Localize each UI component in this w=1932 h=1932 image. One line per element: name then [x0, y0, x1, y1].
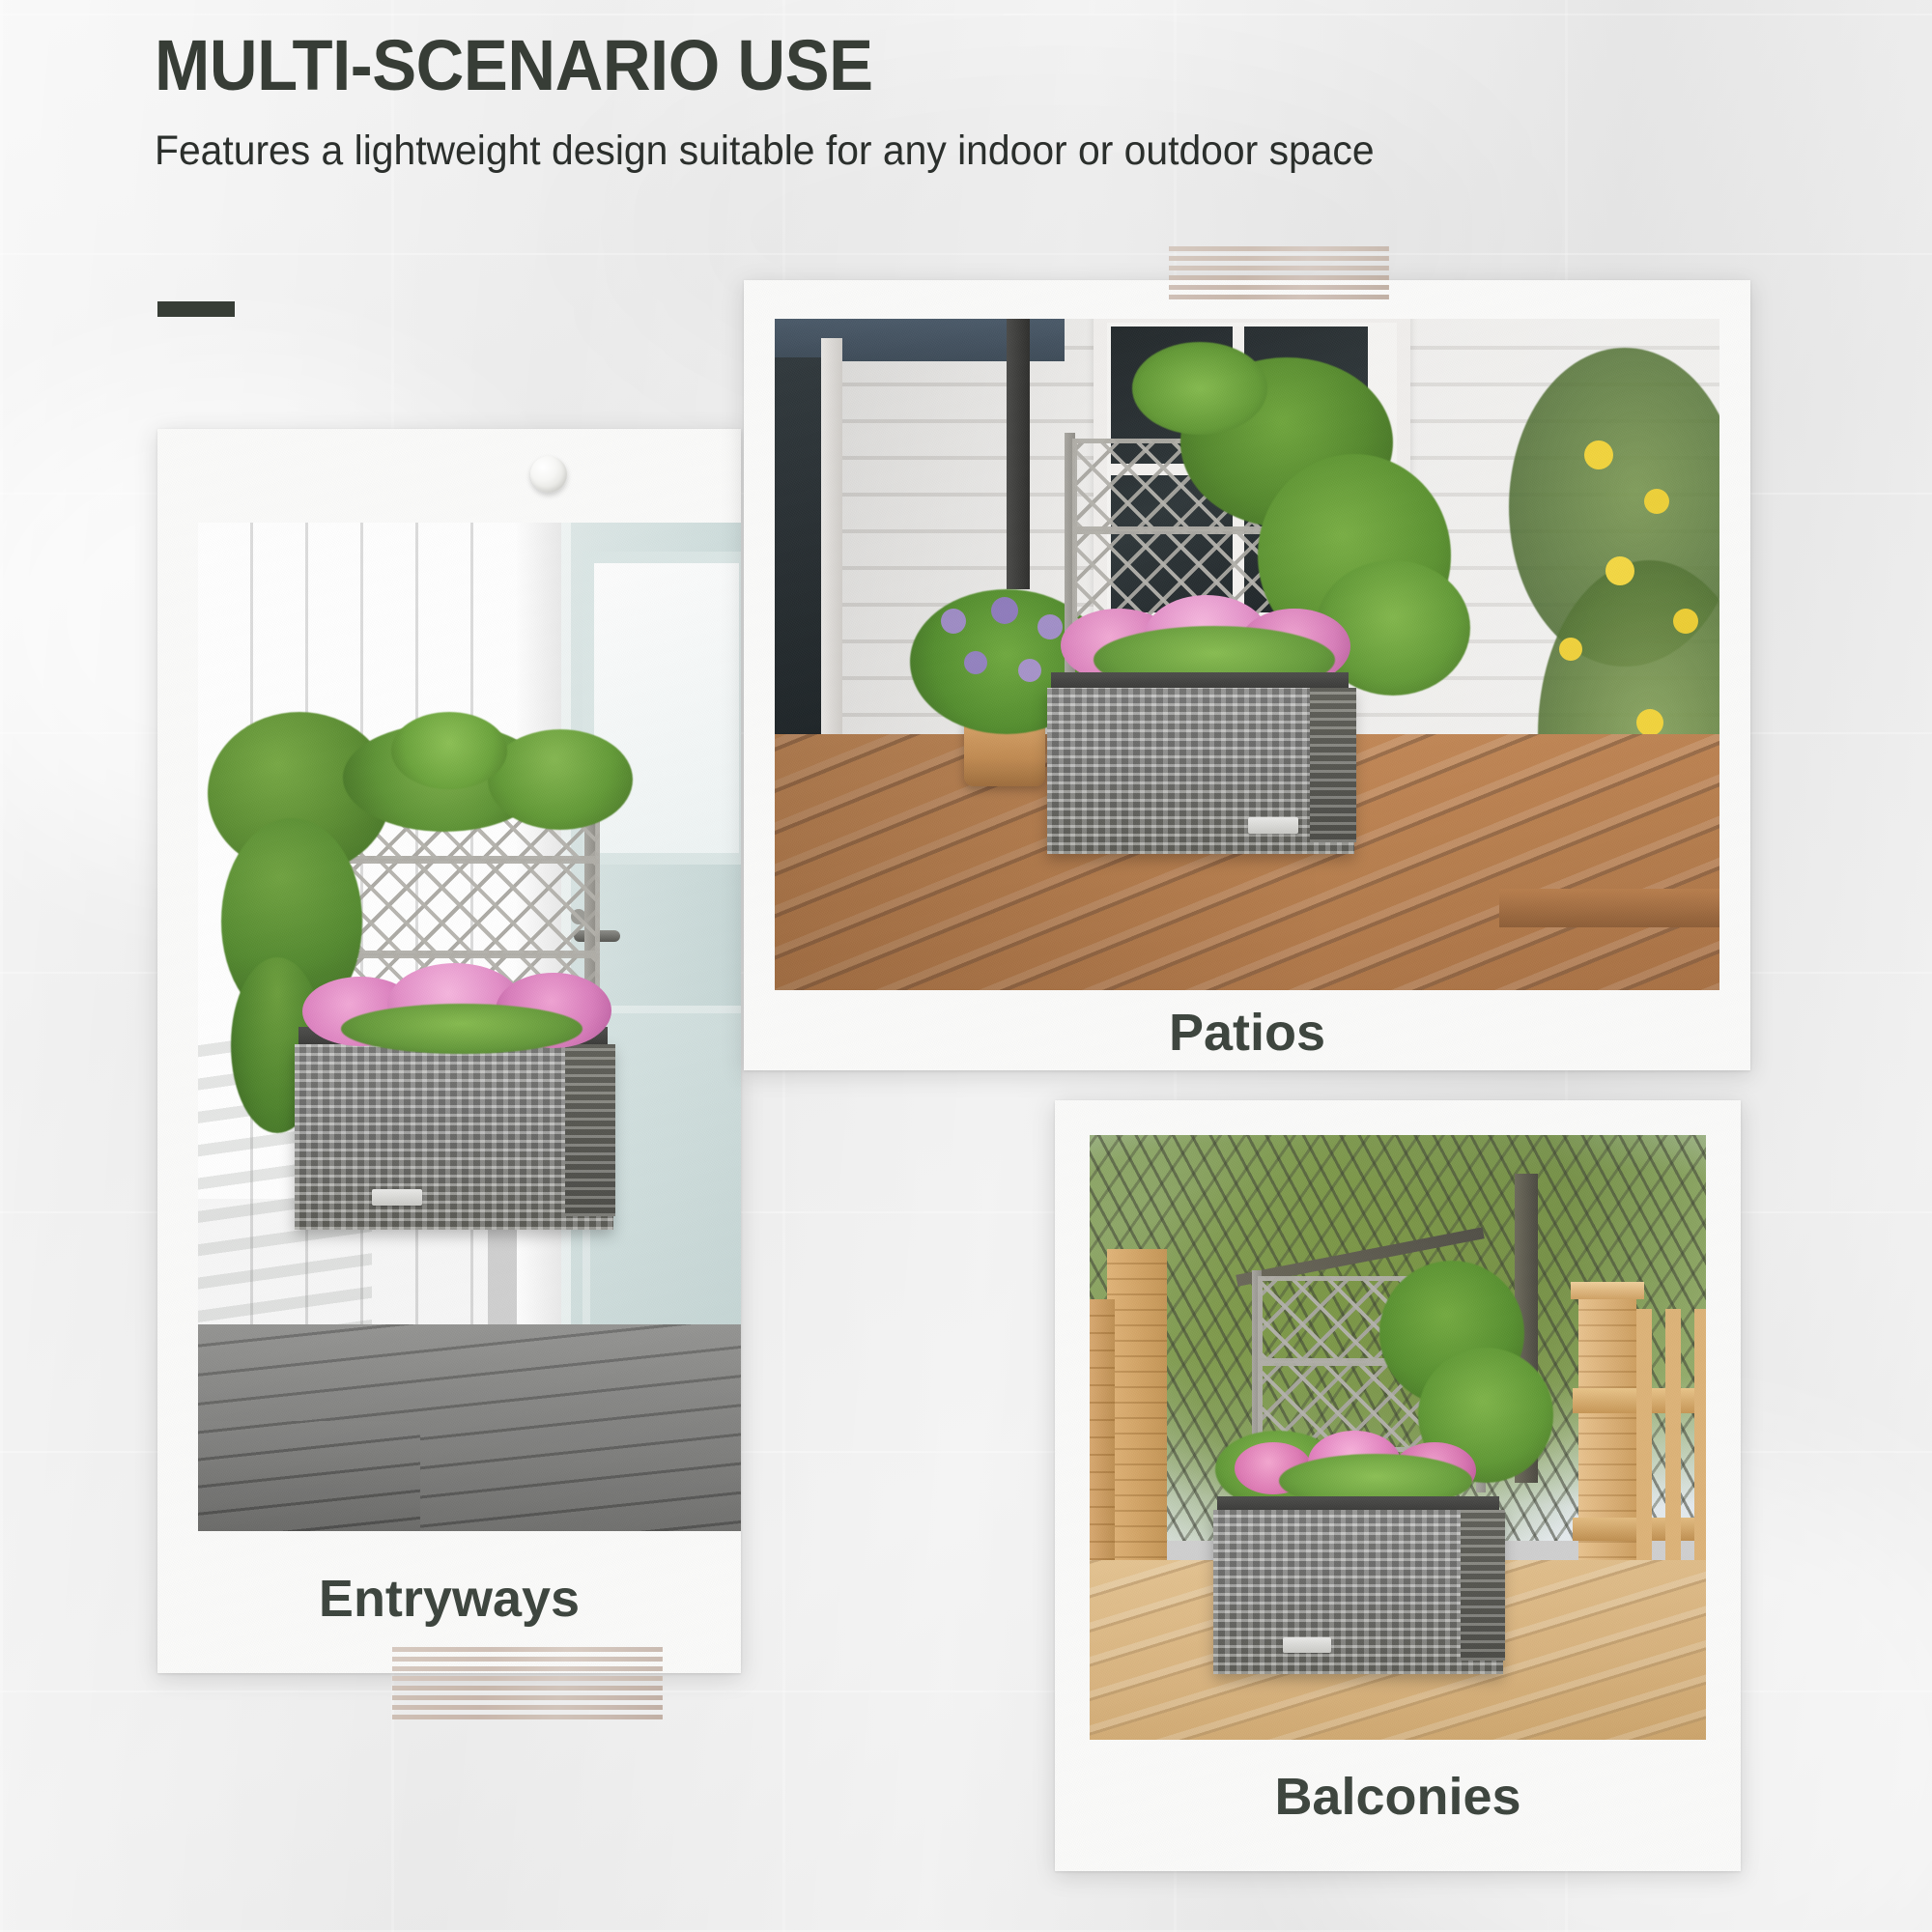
patio-planter-side — [1310, 688, 1356, 842]
purple-rose-3 — [1037, 614, 1063, 639]
yellow-flower-2 — [1644, 489, 1669, 514]
purple-rose-2 — [991, 597, 1018, 624]
tape-strip-bottom — [392, 1647, 663, 1720]
caption-balconies: Balconies — [1055, 1767, 1741, 1827]
deck-step-edge — [1499, 889, 1719, 927]
page-title: MULTI-SCENARIO USE — [155, 27, 1502, 104]
patio-brand-logo-tag — [1248, 817, 1298, 834]
page-subtitle: Features a lightweight design suitable f… — [155, 126, 1531, 176]
climbing-vine-tendril — [1132, 342, 1267, 435]
planter-box-side — [565, 1044, 615, 1216]
yellow-flower-5 — [1559, 638, 1582, 661]
railing-cap-right — [1571, 1282, 1644, 1299]
yellow-flower-1 — [1584, 440, 1613, 469]
deck-floor-left — [198, 1421, 420, 1531]
yellow-flower-6 — [1636, 709, 1663, 736]
caption-entryways: Entryways — [157, 1569, 741, 1629]
planter-greenery — [341, 1004, 582, 1054]
patio-planter-box — [1047, 688, 1354, 854]
ivy-trail-leafspray — [391, 712, 507, 789]
balcony-planter-box — [1213, 1510, 1503, 1674]
accent-dash — [157, 301, 235, 317]
railing-balusters-right — [1636, 1309, 1706, 1599]
header: MULTI-SCENARIO USE Features a lightweigh… — [155, 27, 1604, 176]
trellis-panel-mid — [320, 859, 600, 955]
caption-patios: Patios — [744, 1003, 1750, 1063]
awning-post — [1007, 319, 1030, 589]
brand-logo-tag — [372, 1189, 422, 1206]
photo-patios — [775, 319, 1719, 990]
tape-strip-top — [1169, 246, 1389, 302]
door-jamb — [821, 338, 842, 802]
card-entryways[interactable]: Entryways — [157, 429, 741, 1673]
infographic-canvas: MULTI-SCENARIO USE Features a lightweigh… — [0, 0, 1932, 1932]
purple-rose-5 — [1018, 659, 1041, 682]
photo-entryways — [198, 523, 741, 1531]
card-balconies[interactable]: Balconies — [1055, 1100, 1741, 1871]
pushpin-icon — [530, 456, 567, 493]
card-patios[interactable]: Patios — [744, 280, 1750, 1070]
balcony-brand-logo-tag — [1283, 1637, 1331, 1653]
yellow-flower-3 — [1605, 556, 1634, 585]
tape-sheen — [1169, 246, 1389, 302]
balcony-planter-side — [1461, 1510, 1505, 1661]
photo-balconies — [1090, 1135, 1706, 1740]
ivy-cluster-4 — [488, 729, 633, 830]
purple-rose-4 — [964, 651, 987, 674]
yellow-flower-4 — [1673, 609, 1698, 634]
sliding-door-glass — [775, 357, 821, 773]
purple-rose-1 — [941, 609, 966, 634]
tape-sheen — [392, 1647, 663, 1720]
